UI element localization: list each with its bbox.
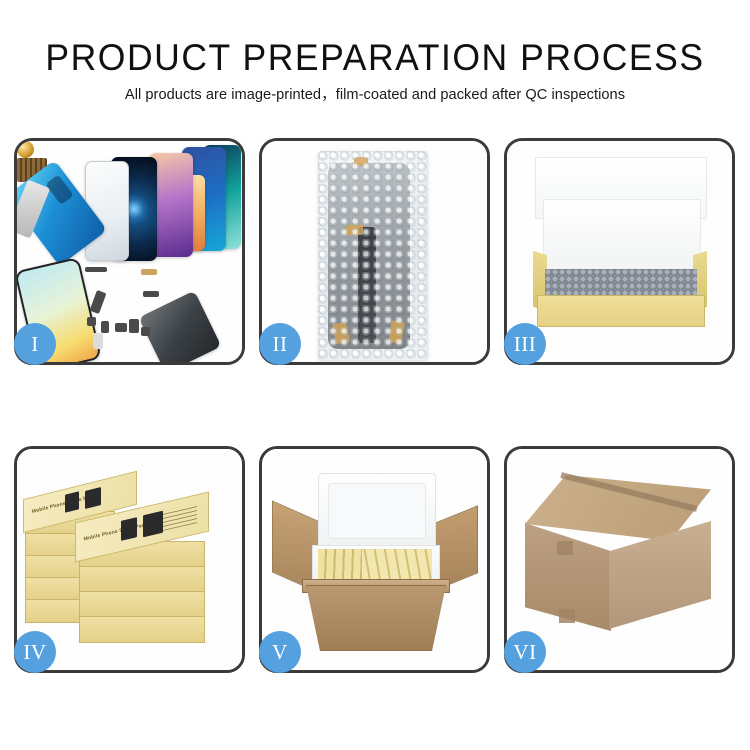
step-6-image — [507, 449, 732, 670]
process-step-panel-4: Mobile Phone Spare Parts Mobile Phone Sp… — [14, 446, 245, 673]
step-5-image — [262, 449, 487, 670]
step-3-image — [507, 141, 732, 362]
phone-back-housing — [139, 291, 222, 362]
stack-window-2a — [121, 517, 137, 541]
process-step-panel-1: I — [14, 138, 245, 365]
foam-box-lid-inner — [328, 483, 426, 539]
process-step-panel-3: III — [504, 138, 735, 365]
stack-box-r4 — [79, 616, 205, 643]
page-header: PRODUCT PREPARATION PROCESS All products… — [0, 36, 750, 105]
step-1-image — [17, 141, 242, 362]
process-steps-grid: I II — [14, 138, 736, 673]
stack-box-r2 — [79, 566, 205, 593]
small-part-d — [129, 319, 139, 333]
step-badge-4: IV — [14, 631, 56, 673]
small-part-f — [143, 291, 159, 297]
carton-tape-upper — [557, 541, 573, 555]
step-badge-2: II — [259, 323, 301, 365]
wrapped-flex-cable — [358, 227, 376, 343]
stack-box-r3 — [79, 591, 205, 618]
foam-sheet — [543, 199, 701, 273]
small-part-c — [115, 323, 127, 332]
page-subtitle: All products are image-printed，film-coat… — [0, 86, 750, 105]
process-step-panel-6: VI — [504, 446, 735, 673]
step-badge-1: I — [14, 323, 56, 365]
small-part-strip — [85, 267, 107, 272]
step-badge-3: III — [504, 323, 546, 365]
page-title: PRODUCT PREPARATION PROCESS — [15, 36, 735, 80]
phone-parts-scene — [17, 141, 242, 362]
stack-window-2b — [143, 511, 163, 538]
process-step-panel-2: II — [259, 138, 490, 365]
bubble-wrap-layer — [545, 269, 697, 297]
tape-middle — [346, 225, 363, 235]
step-badge-5: V — [259, 631, 301, 673]
small-part-e — [141, 327, 150, 336]
tape-top — [354, 157, 368, 166]
small-part-gold-strip — [141, 269, 157, 275]
carton-tape-lower — [559, 609, 575, 623]
product-preparation-process-page: PRODUCT PREPARATION PROCESS All products… — [0, 0, 750, 750]
box-front-panel-yellow — [537, 295, 705, 327]
camera-lens-part — [17, 141, 34, 158]
carton-body — [306, 585, 446, 651]
step-2-image — [262, 141, 487, 362]
step-badge-6: VI — [504, 631, 546, 673]
step-4-image: Mobile Phone Spare Parts Mobile Phone Sp… — [17, 449, 242, 670]
small-part-b — [101, 321, 109, 333]
small-part-flex — [90, 290, 107, 314]
stack-window-1a — [65, 491, 79, 512]
process-step-panel-5: V — [259, 446, 490, 673]
small-part-g — [93, 333, 103, 349]
small-part-a — [87, 317, 96, 326]
carton-right-face — [609, 521, 711, 629]
